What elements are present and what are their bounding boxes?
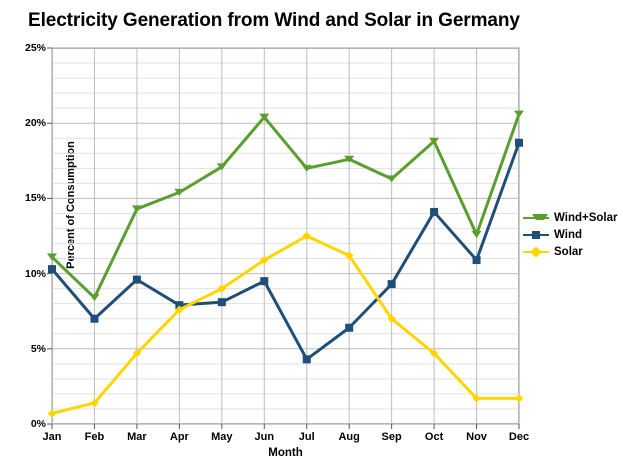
y-tick-label: 20% — [2, 117, 46, 129]
chart-container: Electricity Generation from Wind and Sol… — [0, 0, 623, 467]
legend-item-wind[interactable]: Wind — [523, 226, 617, 243]
legend-label: Wind+Solar — [554, 212, 617, 224]
legend-swatch-icon — [523, 245, 549, 259]
y-tick-label: 15% — [2, 192, 46, 204]
legend-swatch-icon — [523, 211, 549, 225]
legend-swatch-icon — [523, 228, 549, 242]
y-tick-label: 0% — [2, 418, 46, 430]
y-tick-label: 10% — [2, 268, 46, 280]
legend-item-wind-solar[interactable]: Wind+Solar — [523, 209, 617, 226]
chart-legend: Wind+SolarWindSolar — [523, 209, 617, 260]
legend-label: Solar — [554, 246, 583, 258]
y-tick-label: 25% — [2, 42, 46, 54]
y-tick-label: 5% — [2, 343, 46, 355]
x-axis-label: Month — [52, 447, 519, 459]
legend-label: Wind — [554, 229, 582, 241]
legend-item-solar[interactable]: Solar — [523, 243, 617, 260]
x-tick-label: Dec — [492, 431, 546, 443]
